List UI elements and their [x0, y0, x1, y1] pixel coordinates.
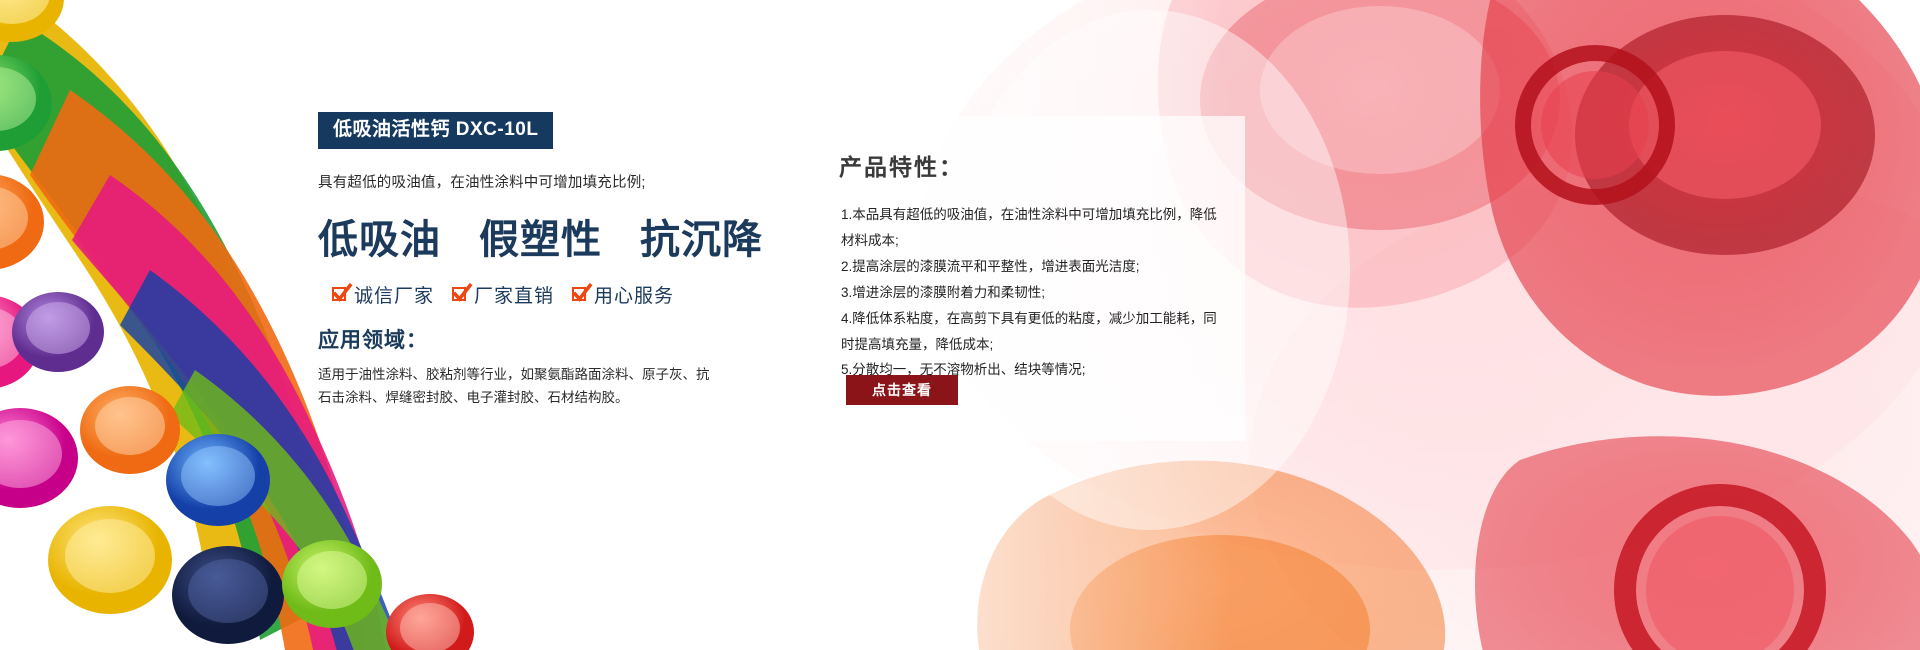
trust-badge-item: 诚信厂家	[332, 281, 434, 308]
headline-word-3: 抗沉降	[640, 207, 763, 265]
headline-word-1: 低吸油	[318, 207, 441, 265]
trust-badge-item: 用心服务	[572, 281, 674, 308]
feature-list-item: 1.本品具有超低的吸油值，在油性涂料中可增加填充比例，降低材料成本;	[841, 202, 1219, 254]
checkbox-checked-icon	[572, 286, 589, 303]
feature-list-item: 3.增进涂层的漆膜附着力和柔韧性;	[841, 280, 1219, 306]
application-fields-body: 适用于油性涂料、胶粘剂等行业，如聚氨酯路面涂料、原子灰、抗石击涂料、焊缝密封胶、…	[318, 363, 718, 410]
features-panel-title: 产品特性：	[839, 148, 964, 182]
trust-badge-label: 用心服务	[594, 281, 674, 308]
product-title-badge: 低吸油活性钙 DXC-10L	[318, 112, 553, 149]
feature-list-item: 4.降低体系粘度，在高剪下具有更低的粘度，减少加工能耗，同时提高填充量，降低成本…	[841, 306, 1219, 358]
application-fields-title: 应用领域：	[318, 324, 738, 354]
headline-keywords: 低吸油 假塑性 抗沉降	[318, 207, 738, 265]
left-content-block: 低吸油活性钙 DXC-10L 具有超低的吸油值，在油性涂料中可增加填充比例; 低…	[318, 112, 738, 410]
view-details-button[interactable]: 点击查看	[846, 375, 958, 405]
trust-badge-label: 厂家直销	[474, 281, 554, 308]
product-subtitle: 具有超低的吸油值，在油性涂料中可增加填充比例;	[318, 173, 738, 195]
banner-stage: 低吸油活性钙 DXC-10L 具有超低的吸油值，在油性涂料中可增加填充比例; 低…	[0, 0, 1920, 650]
headline-word-2: 假塑性	[479, 207, 602, 265]
trust-badge-item: 厂家直销	[452, 281, 554, 308]
trust-badge-list: 诚信厂家 厂家直销 用心服务	[332, 281, 738, 308]
trust-badge-label: 诚信厂家	[354, 281, 434, 308]
checkbox-checked-icon	[452, 286, 469, 303]
features-list: 1.本品具有超低的吸油值，在油性涂料中可增加填充比例，降低材料成本; 2.提高涂…	[841, 202, 1219, 383]
checkbox-checked-icon	[332, 286, 349, 303]
feature-list-item: 2.提高涂层的漆膜流平和平整性，增进表面光洁度;	[841, 254, 1219, 280]
